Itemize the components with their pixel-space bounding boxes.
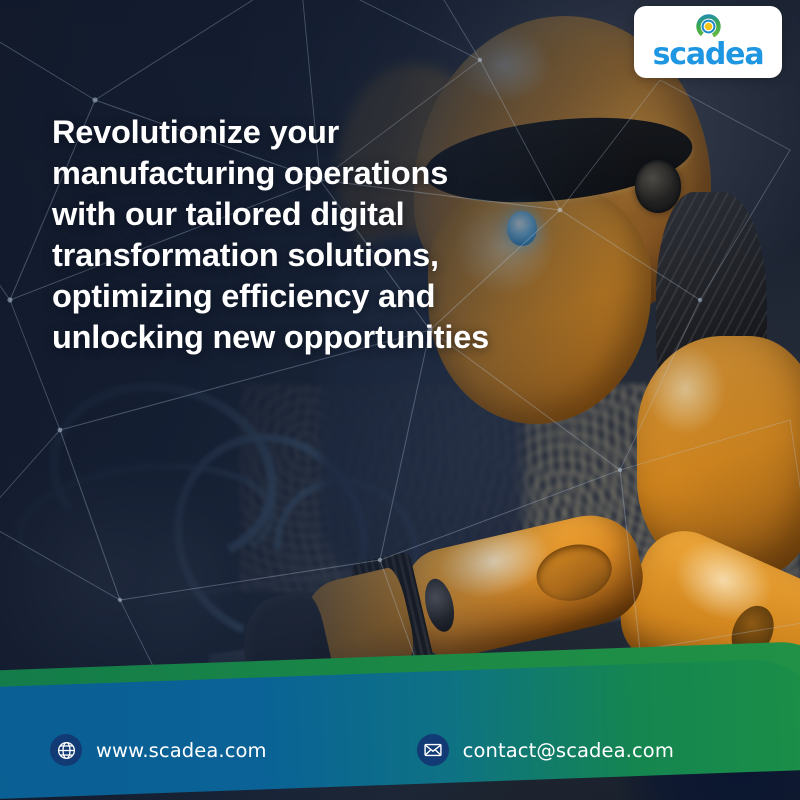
circular-ring-logo-icon bbox=[696, 14, 721, 39]
headline-line-5: optimizing efficiency and bbox=[52, 276, 522, 317]
brand-wordmark: scadea bbox=[653, 40, 764, 70]
brand-logo-badge[interactable]: scadea bbox=[634, 6, 782, 78]
globe-icon bbox=[50, 734, 82, 766]
website-label: www.scadea.com bbox=[96, 739, 267, 762]
website-contact[interactable]: www.scadea.com bbox=[50, 734, 267, 766]
page-title: Revolutionize your manufacturing operati… bbox=[52, 112, 522, 358]
email-label: contact@scadea.com bbox=[463, 739, 674, 762]
headline-line-6: unlocking new opportunities bbox=[52, 317, 522, 358]
footer-content: www.scadea.com contact@scadea.com bbox=[0, 700, 800, 800]
headline-line-4: transformation solutions, bbox=[52, 235, 522, 276]
envelope-icon bbox=[417, 734, 449, 766]
headline-line-2: manufacturing operations bbox=[52, 153, 522, 194]
headline-line-1: Revolutionize your bbox=[52, 112, 522, 153]
marketing-poster: scadea Revolutionize your manufacturing … bbox=[0, 0, 800, 800]
headline-line-3: with our tailored digital bbox=[52, 194, 522, 235]
email-contact[interactable]: contact@scadea.com bbox=[417, 734, 674, 766]
